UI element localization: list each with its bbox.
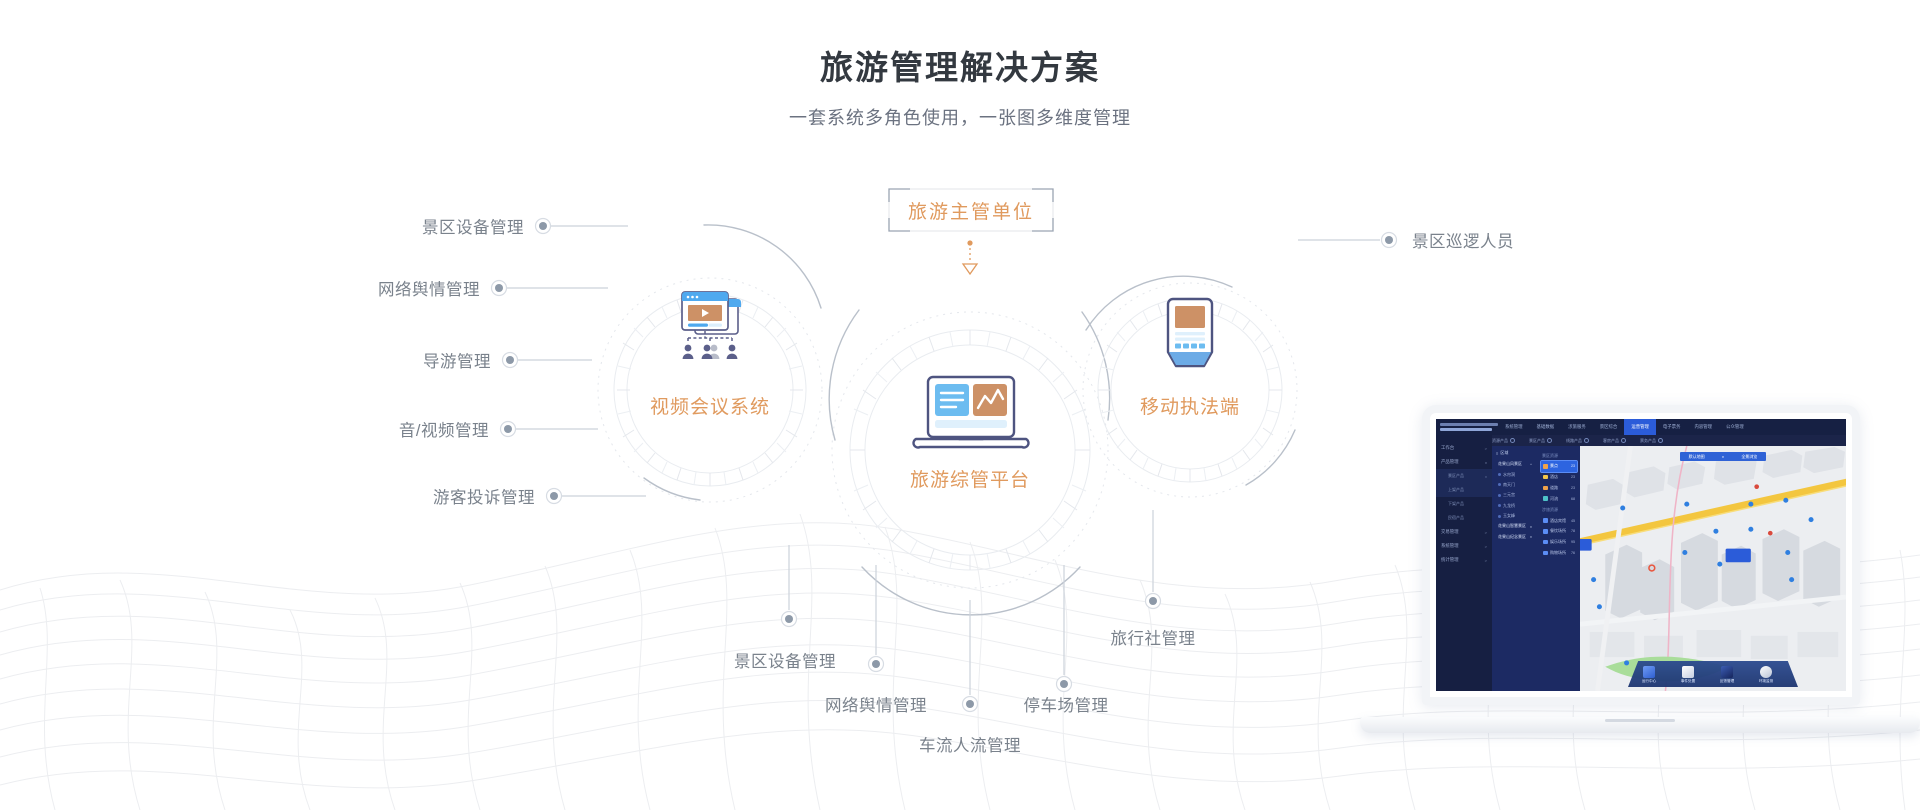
dock-label-2: 反馈管理 [1720, 679, 1734, 683]
left-label-guide-management: 导游管理 [423, 348, 491, 372]
sidebar-label-6: 交易管理 [1441, 529, 1459, 535]
sidebar-label-3: 上架产品 [1448, 487, 1464, 493]
layer2-color-swatch-0 [1543, 518, 1548, 523]
mobile-device-icon [1162, 297, 1218, 373]
page-header: 旅游管理解决方案 一套系统多角色使用，一张图多维度管理 [0, 0, 1920, 130]
subnav-label-4: 票务产品 [1640, 438, 1656, 444]
tree-label-4: 九龙桥 [1503, 503, 1515, 509]
layer2-count-2: 95 [1571, 540, 1575, 544]
tree-bullet-icon-5 [1498, 515, 1501, 518]
laptop-lid: 系统管理 基础数据 涉旅服务 景区综合 运营管理 电子票务 内容管理 公众管理 … [1422, 405, 1860, 705]
tree-group-0[interactable]: 花果山风景区^ [1496, 459, 1534, 469]
layer-item-3[interactable]: 河流68 [1541, 493, 1577, 504]
layer2-label-0: 酒店宾馆 [1550, 518, 1566, 524]
layer-color-swatch-0 [1543, 464, 1548, 469]
subnav-dot-icon-3 [1621, 438, 1626, 443]
chevron-down-icon-1: v [1485, 460, 1487, 465]
bottom-label-scenic-equipment: 景区设备管理 [734, 648, 836, 672]
map-dock[interactable]: 运行中心 事件处置 反馈管理 环境监测 [1628, 661, 1798, 687]
chevron-down-icon-t6: v [1530, 524, 1532, 529]
sidebar-label-5: 民宿产品 [1448, 515, 1464, 521]
region-tree-title: 区域 [1500, 450, 1508, 456]
subnav-item-3[interactable]: 客房产品 [1603, 438, 1626, 444]
app-topbar: 系统管理 基础数据 涉旅服务 景区综合 运营管理 电子票务 内容管理 公众管理 [1436, 419, 1846, 435]
sidebar-item-2[interactable]: 景区产品v [1436, 469, 1492, 483]
layer-label-1: 酒店 [1550, 474, 1558, 480]
tree-label-3: 三元宫 [1503, 492, 1515, 498]
bottom-label-parking: 停车场管理 [1024, 692, 1109, 716]
layer2-label-2: 娱乐场所 [1550, 539, 1566, 545]
layer2-count-1: 78 [1571, 529, 1575, 533]
app-subnav[interactable]: 资源产品 景区产品 线路产品 客房产品 票务产品 [1436, 435, 1846, 446]
nav-item-6[interactable]: 内容管理 [1687, 419, 1719, 435]
subnav-dot-icon-2 [1584, 438, 1589, 443]
tree-leaf-5[interactable]: 玉女峰 [1496, 511, 1534, 521]
tree-label-6: 花果山智慧景区 [1498, 523, 1526, 529]
node-label-tourism-platform: 旅游综管平台 [910, 465, 1030, 492]
layer-count-2: 23 [1571, 486, 1575, 490]
node-label-video-conference: 视频会议系统 [650, 392, 770, 419]
bottom-label-network-opinion: 网络舆情管理 [825, 692, 927, 716]
left-label-scenic-equipment: 景区设备管理 [422, 214, 524, 238]
app-sidebar[interactable]: 工作台> 产品管理v 景区产品v 上架产品 下架产品 民宿产品 交易管理> 系统… [1436, 435, 1492, 691]
nav-item-2[interactable]: 涉旅服务 [1561, 419, 1593, 435]
bottom-label-traffic-flow: 车流人流管理 [919, 732, 1021, 756]
nav-item-0[interactable]: 系统管理 [1498, 419, 1530, 435]
sidebar-item-8[interactable]: 统计管理> [1436, 553, 1492, 567]
layers-panel[interactable]: 景区资源 景点23 酒店23 道路23 河流68 涉旅资源 酒店宾馆45 餐饮场… [1538, 446, 1580, 691]
resource-panel: ≡ 区域 花果山风景区^ 水帘洞 南天门 三元宫 九龙桥 玉女峰 花果山智慧景区… [1492, 446, 1580, 691]
map-mode-buttons[interactable]: 默认地图 v 全景浏览 [1680, 452, 1766, 461]
right-label-scenic-patrol: 景区巡逻人员 [1412, 228, 1514, 252]
subnav-dot-icon-4 [1658, 438, 1663, 443]
map-canvas [1580, 446, 1846, 691]
subnav-label-2: 线路产品 [1566, 438, 1582, 444]
layer2-color-swatch-3 [1543, 551, 1548, 556]
layer-item-1[interactable]: 酒店23 [1541, 472, 1577, 483]
sidebar-label-8: 统计管理 [1441, 557, 1459, 563]
app-nav[interactable]: 系统管理 基础数据 涉旅服务 景区综合 运营管理 电子票务 内容管理 公众管理 [1498, 419, 1846, 435]
tree-group-6[interactable]: 花果山智慧景区v [1496, 521, 1534, 531]
chevron-up-icon-t0: ^ [1530, 462, 1532, 467]
sidebar-label-1: 产品管理 [1441, 459, 1459, 465]
dock-label-1: 事件处置 [1681, 679, 1695, 683]
subnav-item-1[interactable]: 景区产品 [1529, 438, 1552, 444]
tree-bullet-icon-2 [1498, 483, 1501, 486]
dock-item-2[interactable]: 反馈管理 [1710, 666, 1744, 685]
left-label-av-management: 音/视频管理 [399, 417, 489, 441]
map-button-panorama[interactable]: 全景浏览 [1741, 454, 1757, 460]
nav-item-1[interactable]: 基础数据 [1530, 419, 1562, 435]
subnav-item-0[interactable]: 资源产品 [1492, 438, 1515, 444]
sidebar-label-0: 工作台 [1441, 445, 1454, 451]
node-label-mobile-enforcement: 移动执法端 [1140, 392, 1240, 419]
sidebar-item-7[interactable]: 系统管理> [1436, 539, 1492, 553]
sidebar-label-7: 系统管理 [1441, 543, 1459, 549]
sidebar-label-4: 下架产品 [1448, 501, 1464, 507]
layer2-color-swatch-2 [1543, 540, 1548, 545]
sidebar-item-3[interactable]: 上架产品 [1436, 483, 1492, 497]
nav-item-3[interactable]: 景区综合 [1593, 419, 1625, 435]
tree-label-1: 水帘洞 [1503, 472, 1515, 478]
left-label-tourist-complaints: 游客投诉管理 [433, 484, 535, 508]
tree-label-5: 玉女峰 [1503, 513, 1515, 519]
dock-cube-icon-1 [1682, 666, 1694, 678]
authority-badge-label: 旅游主管单位 [888, 188, 1054, 232]
layer-count-1: 23 [1571, 475, 1575, 479]
layer-item-2[interactable]: 道路23 [1541, 483, 1577, 494]
product-screenshot-laptop: 系统管理 基础数据 涉旅服务 景区综合 运营管理 电子票务 内容管理 公众管理 … [1360, 405, 1920, 765]
chevron-down-icon-t7: v [1530, 534, 1532, 539]
chevron-down-icon-2: v [1485, 474, 1487, 479]
region-tree-header: ≡ 区域 [1496, 450, 1534, 456]
sidebar-item-0[interactable]: 工作台> [1436, 441, 1492, 455]
layer2-label-3: 购物场所 [1550, 550, 1566, 556]
sidebar-label-2: 景区产品 [1448, 473, 1464, 479]
hamburger-icon: ≡ [1496, 451, 1498, 456]
chevron-right-icon-6: > [1485, 530, 1487, 535]
chevron-right-icon-7: > [1485, 544, 1487, 549]
dock-label-0: 运行中心 [1642, 679, 1656, 683]
solution-diagram-page: 旅游管理解决方案 一套系统多角色使用，一张图多维度管理 [0, 0, 1920, 810]
layer2-count-3: 76 [1571, 551, 1575, 555]
page-title: 旅游管理解决方案 [0, 48, 1920, 88]
nav-item-4[interactable]: 运营管理 [1624, 419, 1656, 435]
sidebar-item-4[interactable]: 下架产品 [1436, 497, 1492, 511]
tree-bullet-icon-3 [1498, 494, 1501, 497]
layer2-item-3[interactable]: 购物场所76 [1541, 547, 1577, 558]
layer-count-0: 23 [1571, 464, 1575, 468]
tree-leaf-2[interactable]: 南天门 [1496, 480, 1534, 490]
subnav-item-2[interactable]: 线路产品 [1566, 438, 1589, 444]
sidebar-item-1[interactable]: 产品管理v [1436, 455, 1492, 469]
authority-badge: 旅游主管单位 [888, 188, 1054, 232]
region-tree-panel[interactable]: ≡ 区域 花果山风景区^ 水帘洞 南天门 三元宫 九龙桥 玉女峰 花果山智慧景区… [1492, 446, 1538, 691]
chevron-right-icon-0: > [1485, 446, 1487, 451]
laptop-screen: 系统管理 基础数据 涉旅服务 景区综合 运营管理 电子票务 内容管理 公众管理 … [1436, 419, 1846, 691]
nav-item-7[interactable]: 公众管理 [1719, 419, 1751, 435]
tree-bullet-icon-1 [1498, 473, 1501, 476]
dock-item-1[interactable]: 事件处置 [1671, 666, 1705, 685]
layers2-title: 涉旅资源 [1542, 507, 1577, 513]
nav-item-5[interactable]: 电子票务 [1656, 419, 1688, 435]
video-conference-icon [678, 290, 742, 370]
subnav-item-4[interactable]: 票务产品 [1640, 438, 1663, 444]
laptop-dashboard-icon [910, 375, 1032, 453]
sidebar-item-5[interactable]: 民宿产品 [1436, 511, 1492, 525]
layer2-item-1[interactable]: 餐饮场所78 [1541, 526, 1577, 537]
chevron-right-icon-8: > [1485, 558, 1487, 563]
subnav-label-0: 资源产品 [1492, 438, 1508, 444]
layer-label-3: 河流 [1550, 496, 1558, 502]
sidebar-item-6[interactable]: 交易管理> [1436, 525, 1492, 539]
app-brand-logo [1436, 419, 1498, 435]
subnav-dot-icon-0 [1510, 438, 1515, 443]
layer-count-3: 68 [1571, 497, 1575, 501]
layer-item-0[interactable]: 景点23 [1541, 461, 1577, 472]
dock-ring-icon-3 [1760, 666, 1772, 678]
tree-label-2: 南天门 [1503, 482, 1515, 488]
subnav-label-1: 景区产品 [1529, 438, 1545, 444]
subnav-dot-icon-1 [1547, 438, 1552, 443]
dock-cube-icon-0 [1643, 666, 1655, 678]
tree-label-7: 花果山纪念景区 [1498, 534, 1526, 540]
layer2-item-0[interactable]: 酒店宾馆45 [1541, 515, 1577, 526]
map-view[interactable]: 默认地图 v 全景浏览 运行中心 事件处置 [1580, 446, 1846, 691]
dock-cube-icon-2 [1721, 666, 1733, 678]
layer2-label-1: 餐饮场所 [1550, 528, 1566, 534]
laptop-base-keyboard [1360, 717, 1920, 733]
layers-title: 景区资源 [1542, 453, 1577, 459]
layer-color-swatch-2 [1543, 486, 1548, 491]
tree-bullet-icon-4 [1498, 504, 1501, 507]
tree-leaf-3[interactable]: 三元宫 [1496, 490, 1534, 500]
left-label-network-opinion: 网络舆情管理 [378, 276, 480, 300]
layer-label-0: 景点 [1550, 463, 1558, 469]
layer2-color-swatch-1 [1543, 529, 1548, 534]
tree-leaf-1[interactable]: 水帘洞 [1496, 469, 1534, 479]
dock-label-3: 环境监测 [1759, 679, 1773, 683]
layer-color-swatch-3 [1543, 496, 1548, 501]
layer-label-2: 道路 [1550, 485, 1558, 491]
dock-item-0[interactable]: 运行中心 [1632, 666, 1666, 685]
page-subtitle: 一套系统多角色使用，一张图多维度管理 [0, 104, 1920, 130]
chevron-down-icon-map[interactable]: v [1722, 454, 1724, 459]
layer-color-swatch-1 [1543, 475, 1548, 480]
bottom-label-travel-agency: 旅行社管理 [1111, 625, 1196, 649]
layer2-item-2[interactable]: 娱乐场所95 [1541, 537, 1577, 548]
tree-leaf-4[interactable]: 九龙桥 [1496, 501, 1534, 511]
tree-group-7[interactable]: 花果山纪念景区v [1496, 532, 1534, 542]
layer2-count-0: 45 [1571, 519, 1575, 523]
subnav-label-3: 客房产品 [1603, 438, 1619, 444]
dock-item-3[interactable]: 环境监测 [1749, 666, 1783, 685]
tree-label-0: 花果山风景区 [1498, 461, 1522, 467]
map-button-default[interactable]: 默认地图 [1689, 454, 1705, 460]
